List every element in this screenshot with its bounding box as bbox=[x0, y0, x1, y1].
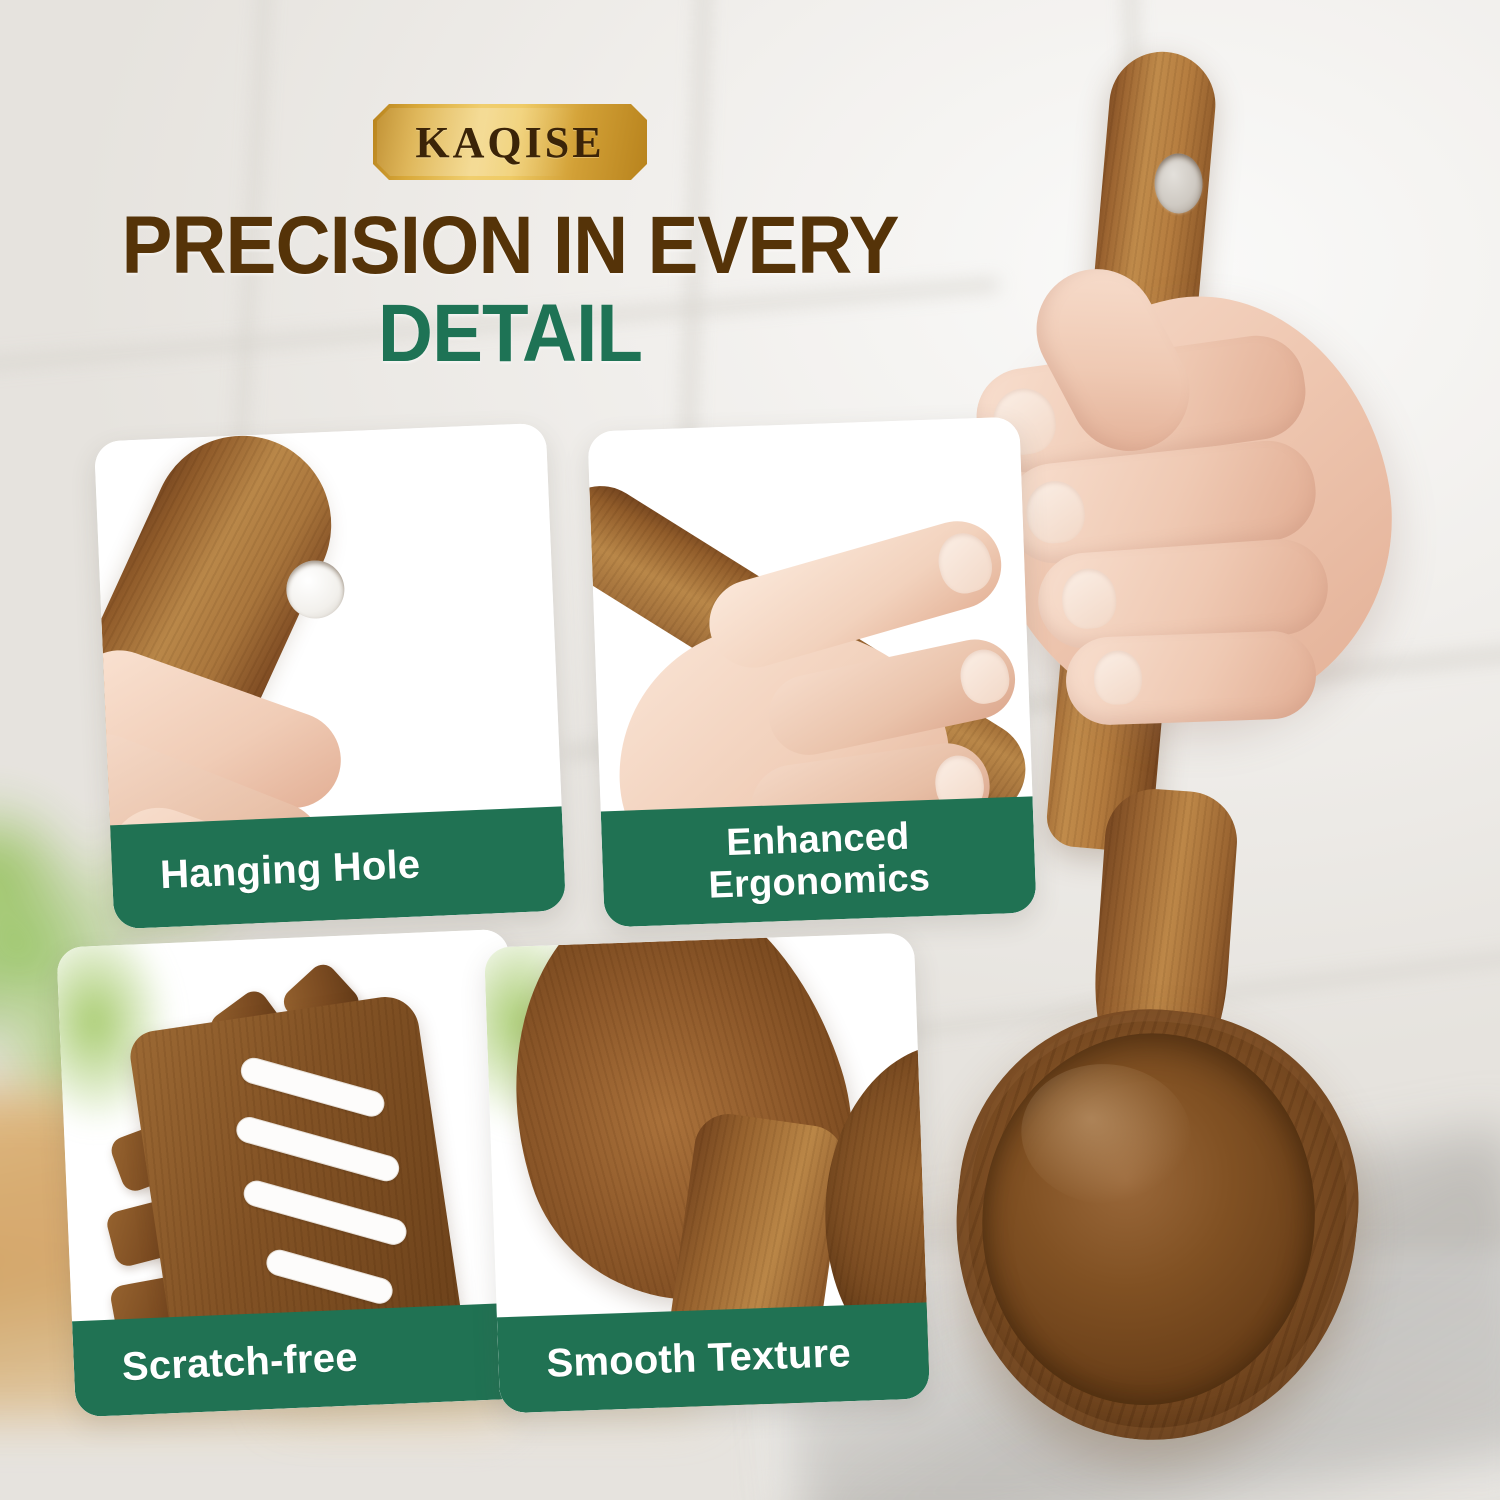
little-finger bbox=[1065, 630, 1318, 727]
card-label-band: Smooth Texture bbox=[497, 1302, 930, 1413]
card-label-text: Hanging Hole bbox=[111, 842, 421, 899]
headline-line-1: PRECISION IN EVERY bbox=[36, 206, 985, 286]
fingernail bbox=[932, 527, 999, 599]
card-label-line-2: Ergonomics bbox=[708, 857, 931, 907]
gold-badge-icon: KAQISE bbox=[373, 104, 647, 180]
card-label-band: Enhanced Ergonomics bbox=[601, 796, 1037, 927]
fingernail bbox=[1093, 650, 1143, 706]
fingernail bbox=[1023, 478, 1087, 546]
card-label-text: Smooth Texture bbox=[498, 1331, 852, 1387]
fingernail bbox=[956, 645, 1014, 708]
card-label-line-1: Enhanced bbox=[726, 816, 911, 864]
headline-line-2: DETAIL bbox=[36, 294, 985, 374]
fingernail bbox=[1060, 567, 1118, 631]
card-label-band: Hanging Hole bbox=[110, 806, 566, 929]
header: KAQISE PRECISION IN EVERY DETAIL bbox=[0, 0, 1020, 375]
feature-card-smooth-texture[interactable]: Smooth Texture bbox=[484, 933, 930, 1414]
feature-card-enhanced-ergonomics[interactable]: Enhanced Ergonomics bbox=[587, 417, 1036, 928]
card-label-text: Scratch-free bbox=[73, 1335, 358, 1391]
feature-card-hanging-hole[interactable]: Hanging Hole bbox=[94, 423, 566, 929]
card-label-band: Scratch-free bbox=[72, 1302, 528, 1417]
card-label-text: Enhanced Ergonomics bbox=[601, 813, 1036, 912]
brand-logo: KAQISE bbox=[0, 104, 1020, 180]
brand-name: KAQISE bbox=[415, 117, 604, 168]
feature-card-scratch-free[interactable]: Scratch-free bbox=[56, 929, 527, 1418]
